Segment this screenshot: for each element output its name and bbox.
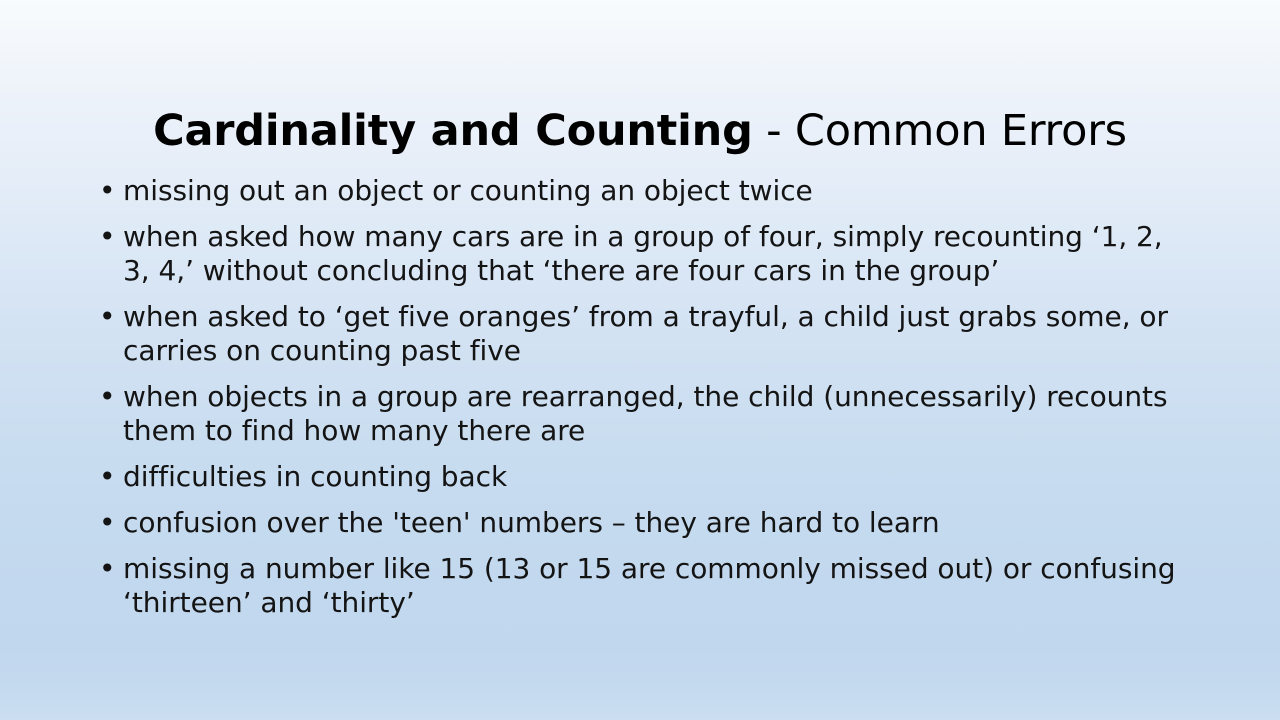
- bullet-dot-icon: •: [99, 380, 115, 414]
- list-item: • difficulties in counting back: [96, 460, 1180, 494]
- list-item-text: when asked how many cars are in a group …: [123, 220, 1180, 288]
- bullet-dot-icon: •: [99, 460, 115, 494]
- list-item-text: when objects in a group are rearranged, …: [123, 380, 1180, 448]
- list-item-text: missing a number like 15 (13 or 15 are c…: [123, 552, 1180, 620]
- presentation-slide: Cardinality and Counting - Common Errors…: [0, 0, 1280, 720]
- list-item: • when asked to ‘get five oranges’ from …: [96, 300, 1180, 368]
- list-item: • when objects in a group are rearranged…: [96, 380, 1180, 448]
- bullet-dot-icon: •: [99, 506, 115, 540]
- list-item-text: difficulties in counting back: [123, 460, 1180, 494]
- bullet-list: • missing out an object or counting an o…: [96, 174, 1180, 620]
- list-item-text: missing out an object or counting an obj…: [123, 174, 1180, 208]
- list-item-text: confusion over the 'teen' numbers – they…: [123, 506, 1180, 540]
- bullet-dot-icon: •: [99, 300, 115, 334]
- bullet-dot-icon: •: [99, 552, 115, 586]
- slide-title-regular-part: - Common Errors: [753, 106, 1127, 156]
- list-item: • missing a number like 15 (13 or 15 are…: [96, 552, 1180, 620]
- bullet-dot-icon: •: [99, 174, 115, 208]
- list-item: • missing out an object or counting an o…: [96, 174, 1180, 208]
- list-item: • confusion over the 'teen' numbers – th…: [96, 506, 1180, 540]
- list-item-text: when asked to ‘get five oranges’ from a …: [123, 300, 1180, 368]
- slide-title: Cardinality and Counting - Common Errors: [64, 103, 1216, 159]
- slide-title-bold-part: Cardinality and Counting: [153, 106, 753, 156]
- list-item: • when asked how many cars are in a grou…: [96, 220, 1180, 288]
- bullet-dot-icon: •: [99, 220, 115, 254]
